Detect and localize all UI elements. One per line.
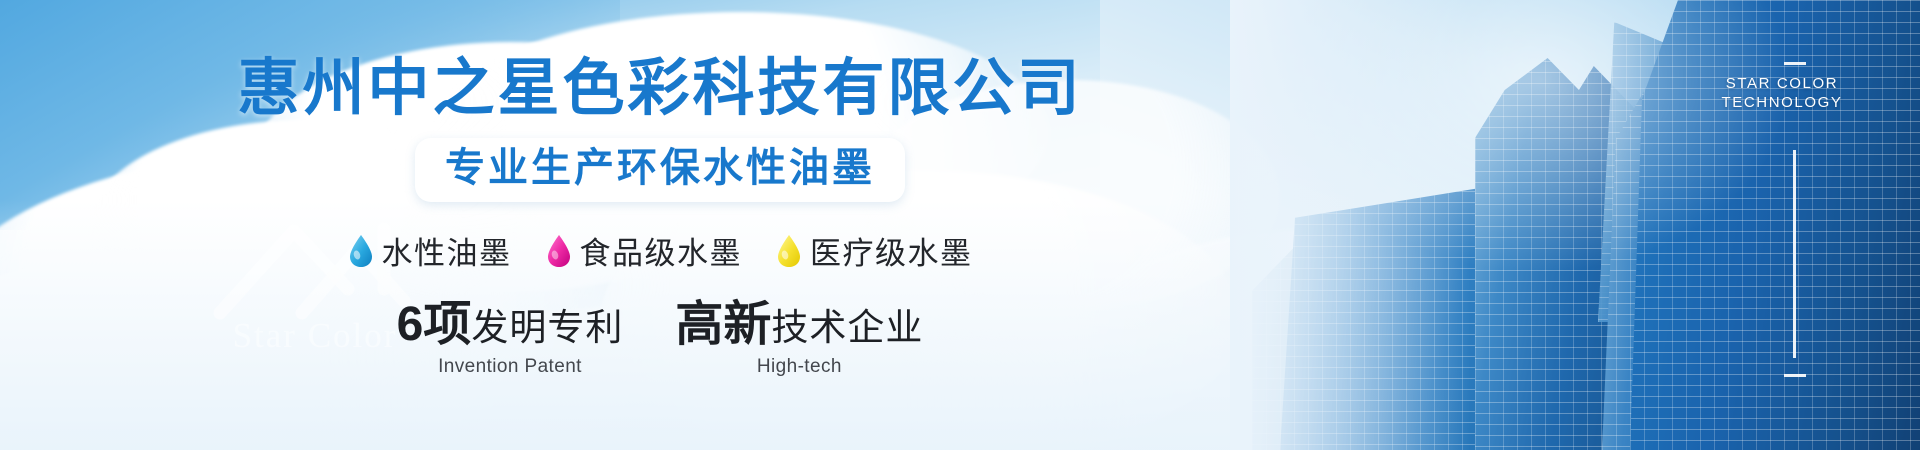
- credential-headline: 6项 发明专利: [397, 301, 624, 349]
- water-drop-icon: [348, 234, 374, 268]
- credential-item-patent: 6项 发明专利 Invention Patent: [397, 301, 624, 378]
- water-drop-icon: [546, 234, 572, 268]
- credential-headline: 高新 技术企业: [675, 301, 923, 349]
- banner-content: 惠州中之星色彩科技有限公司 专业生产环保水性油墨 水性油墨: [0, 0, 1320, 450]
- feature-item-medical-grade: 医疗级水墨: [776, 228, 973, 273]
- feature-list: 水性油墨 食品级水墨: [348, 228, 973, 273]
- promo-banner: Star Color STAR COLOR TECHNOLOGY 惠州中之星色彩…: [0, 0, 1920, 450]
- water-drop-icon: [776, 234, 802, 268]
- credential-subtext: Invention Patent: [397, 356, 624, 378]
- subtitle-pill: 专业生产环保水性油墨: [415, 138, 905, 202]
- badge-line-1: STAR COLOR: [1672, 74, 1892, 93]
- feature-label: 水性油墨: [382, 228, 512, 273]
- credential-list: 6项 发明专利 Invention Patent 高新 技术企业 High-te…: [397, 301, 924, 378]
- feature-item-water-ink: 水性油墨: [348, 228, 512, 273]
- badge-tick-bottom: [1784, 374, 1806, 377]
- subtitle-text: 专业生产环保水性油墨: [445, 145, 875, 191]
- feature-label: 食品级水墨: [580, 228, 743, 273]
- credential-subtext: High-tech: [675, 356, 923, 378]
- badge-tick-top: [1784, 62, 1806, 65]
- credential-weak: 技术企业: [771, 309, 923, 346]
- skyscraper-photo: STAR COLOR TECHNOLOGY: [1230, 0, 1920, 450]
- tower-right: [1630, 0, 1920, 450]
- badge-vertical-rule: [1793, 150, 1796, 358]
- credential-item-hightech: 高新 技术企业 High-tech: [675, 301, 923, 378]
- credential-strong: 高新: [675, 301, 771, 349]
- credential-strong: 6项: [397, 301, 472, 349]
- building-badge: STAR COLOR TECHNOLOGY: [1672, 74, 1892, 112]
- badge-line-2: TECHNOLOGY: [1672, 93, 1892, 112]
- credential-weak: 发明专利: [471, 309, 623, 346]
- feature-item-food-grade: 食品级水墨: [546, 228, 743, 273]
- feature-label: 医疗级水墨: [810, 228, 973, 273]
- company-title: 惠州中之星色彩科技有限公司: [237, 56, 1082, 122]
